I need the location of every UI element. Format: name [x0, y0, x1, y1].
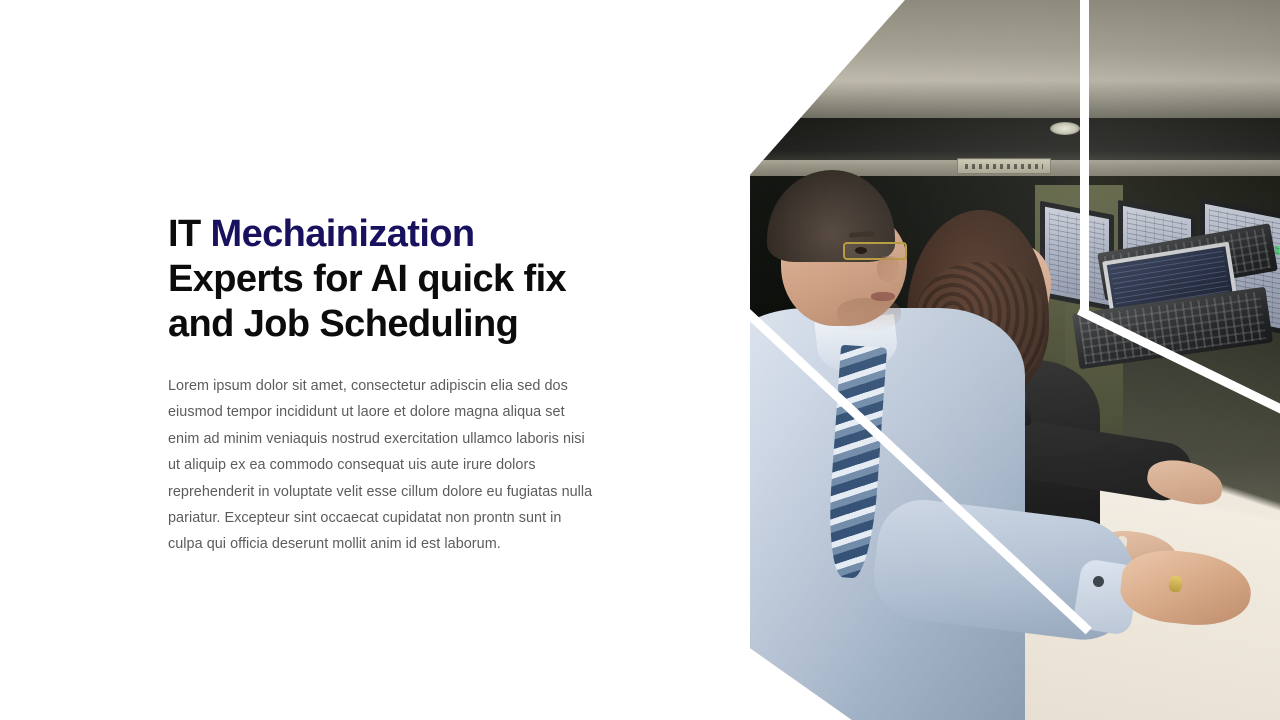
headline-rest: Experts for AI quick fix and Job Schedul… [168, 258, 566, 345]
photo-stage [735, 0, 1280, 720]
photo-clipped-panel [735, 0, 1280, 720]
glasses-icon [843, 242, 907, 260]
man-chin [837, 298, 901, 332]
divider-stripe-vertical [1080, 0, 1089, 310]
office-scene-image [735, 0, 1280, 720]
ceiling-highlight [735, 0, 1280, 122]
text-column: IT Mechainization Experts for AI quick f… [168, 212, 608, 558]
body-paragraph: Lorem ipsum dolor sit amet, consectetur … [168, 373, 598, 558]
page-title: IT Mechainization Experts for AI quick f… [168, 212, 608, 347]
presentation-slide: IT Mechainization Experts for AI quick f… [0, 0, 1280, 720]
headline-lead: IT [168, 213, 211, 255]
headline-accent: Mechainization [211, 213, 475, 255]
man-mouth [871, 292, 895, 301]
monitor-led-icon [1275, 245, 1279, 255]
cuff-button [1093, 576, 1104, 587]
man-eye [855, 247, 867, 254]
ceiling-spotlight [1050, 122, 1080, 135]
